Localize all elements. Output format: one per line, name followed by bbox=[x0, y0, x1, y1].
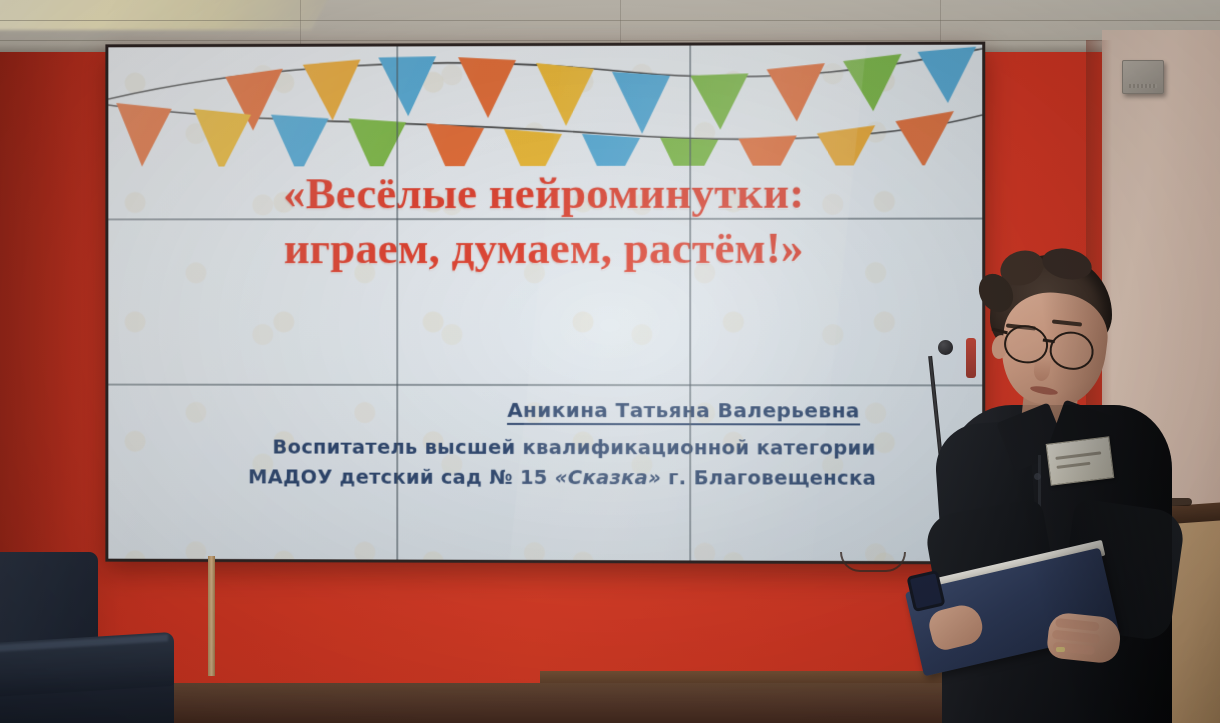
slide-title-line-2: играем, думаем, растём!» bbox=[108, 220, 982, 275]
presenter-name: Аникина Татьяна Валерьевна bbox=[507, 398, 860, 426]
presenter-role: Воспитатель высшей квалификационной кате… bbox=[138, 432, 982, 464]
presentation-room-photo: «Весёлые нейроминутки: играем, думаем, р… bbox=[0, 0, 1220, 723]
presenter-woman bbox=[930, 255, 1180, 723]
shirt-button bbox=[1034, 473, 1041, 480]
display-cable bbox=[840, 552, 906, 572]
finger-ring bbox=[1056, 647, 1065, 652]
slide-title: «Весёлые нейроминутки: играем, думаем, р… bbox=[108, 165, 982, 276]
slide-title-line-1: «Весёлые нейроминутки: bbox=[108, 165, 982, 221]
organization-suffix: г. Благовещенска bbox=[661, 466, 876, 490]
panel-bezel-horizontal-2 bbox=[108, 384, 982, 387]
panel-bezel-vertical-2 bbox=[689, 46, 691, 561]
organization-prefix: МАДОУ детский сад № 15 bbox=[248, 466, 555, 490]
slide-credits: Аникина Татьяна Валерьевна Воспитатель в… bbox=[108, 398, 982, 495]
name-badge bbox=[1046, 436, 1115, 485]
presentation-slide: «Весёлые нейроминутки: играем, думаем, р… bbox=[108, 45, 982, 562]
display-stand-pole bbox=[208, 556, 215, 676]
bunting-row-lower bbox=[116, 101, 954, 167]
bunting-flags-decoration bbox=[108, 45, 982, 167]
organization-quoted: «Сказка» bbox=[555, 466, 661, 489]
navy-sofa bbox=[0, 552, 195, 723]
organization-line: МАДОУ детский сад № 15 «Сказка» г. Благо… bbox=[126, 462, 982, 494]
wall-speaker-icon bbox=[1122, 60, 1164, 94]
panel-bezel-vertical-1 bbox=[396, 46, 398, 559]
video-wall-display[interactable]: «Весёлые нейроминутки: играем, думаем, р… bbox=[105, 42, 985, 565]
ceiling-light-fixture bbox=[0, 0, 328, 30]
speaker-grill bbox=[1129, 84, 1157, 88]
